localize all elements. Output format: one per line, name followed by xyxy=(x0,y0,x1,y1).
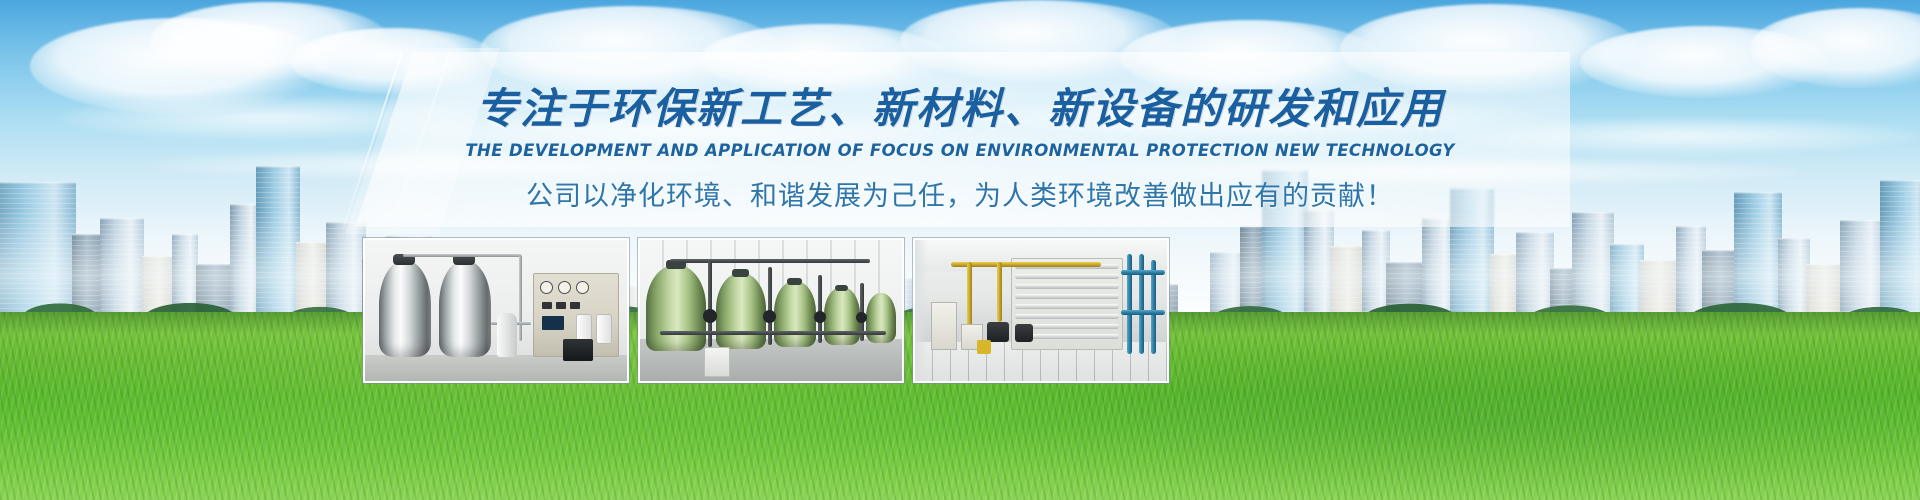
membrane-tube xyxy=(1015,274,1119,279)
pressure-gauge xyxy=(576,281,589,294)
pressure-gauge xyxy=(540,281,553,294)
handwheel-valve[interactable] xyxy=(763,310,776,323)
membrane-housing xyxy=(596,314,612,344)
photo-stainless-steel-water-treatment-system[interactable] xyxy=(363,238,629,383)
panel-switch[interactable] xyxy=(542,302,552,309)
collection-pipe xyxy=(660,331,886,335)
tank-head xyxy=(787,278,802,285)
blue-process-pipe xyxy=(1127,254,1132,354)
blue-process-pipe xyxy=(1139,254,1144,354)
membrane-tube xyxy=(1015,284,1119,289)
white-pressure-vessel xyxy=(497,313,517,357)
yellow-service-pipe xyxy=(951,262,1101,267)
header-pipe xyxy=(670,259,870,263)
tank-head xyxy=(732,269,749,277)
riser-pipe xyxy=(519,255,522,341)
pressure-gauge xyxy=(558,281,571,294)
pump-motor xyxy=(987,322,1009,342)
frp-tank xyxy=(646,265,706,351)
banner-headline: 专注于环保新工艺、新材料、新设备的研发和应用 xyxy=(0,86,1920,132)
photo-strip xyxy=(363,238,1168,383)
filter-housing xyxy=(931,302,957,350)
frp-tank xyxy=(774,281,816,347)
steel-tank xyxy=(439,261,491,357)
handwheel-valve[interactable] xyxy=(703,309,717,323)
overhead-pipe xyxy=(403,254,521,257)
frp-tank xyxy=(866,293,896,343)
photo-green-frp-filter-tank-array[interactable] xyxy=(638,238,904,383)
banner-tagline: 公司以净化环境、和谐发展为己任，为人类环境改善做出应有的贡献！ xyxy=(0,174,1920,213)
pump-motor xyxy=(1015,324,1033,342)
membrane-tube xyxy=(1015,304,1119,309)
banner-subtitle-english: THE DEVELOPMENT AND APPLICATION OF FOCUS… xyxy=(0,141,1920,160)
steel-tank xyxy=(379,261,431,357)
tank-head xyxy=(835,285,848,291)
yellow-valve[interactable] xyxy=(977,340,991,354)
handwheel-valve[interactable] xyxy=(814,311,826,323)
photo-reverse-osmosis-plant-interior[interactable] xyxy=(913,238,1169,383)
panel-switch[interactable] xyxy=(570,302,580,309)
brine-tank xyxy=(704,347,730,377)
handwheel-valve[interactable] xyxy=(856,312,867,323)
panel-switch[interactable] xyxy=(556,302,566,309)
wall-edge xyxy=(915,240,927,381)
membrane-tube xyxy=(1015,294,1119,299)
banner-text-block: 专注于环保新工艺、新材料、新设备的研发和应用 THE DEVELOPMENT A… xyxy=(0,86,1920,213)
yellow-service-pipe xyxy=(967,262,972,328)
hero-banner: 专注于环保新工艺、新材料、新设备的研发和应用 THE DEVELOPMENT A… xyxy=(0,0,1920,500)
membrane-tube xyxy=(1015,314,1119,319)
blue-header-pipe xyxy=(1121,270,1165,275)
yellow-service-pipe xyxy=(997,262,1002,322)
panel-display xyxy=(542,316,564,330)
frp-tank xyxy=(716,273,766,349)
frp-tank xyxy=(824,287,860,345)
blue-header-pipe xyxy=(1121,310,1165,315)
pump-motor xyxy=(563,339,593,361)
